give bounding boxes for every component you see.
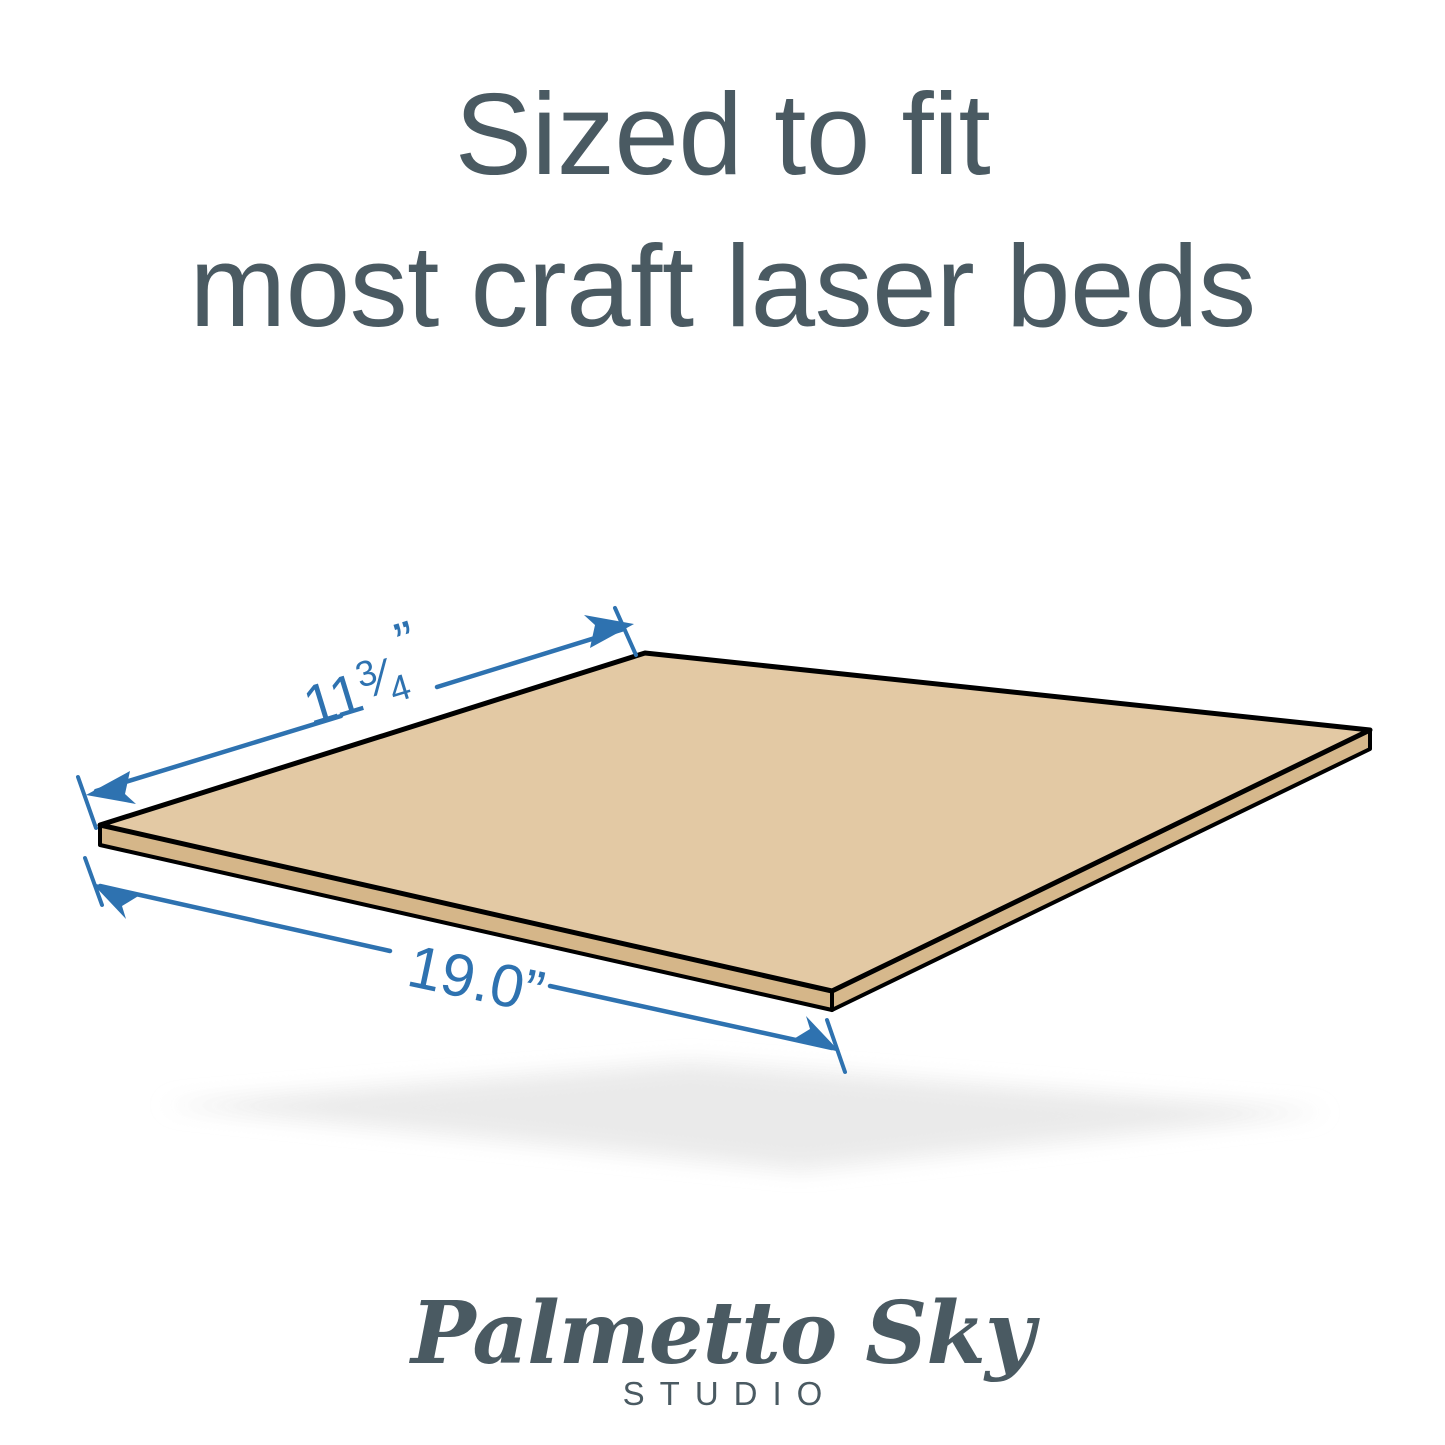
- width-unit: ”: [388, 608, 424, 674]
- length-dimension-label: 19.0”: [402, 932, 550, 1026]
- board-top-face: [100, 653, 1370, 991]
- poster-canvas: Sized to fit most craft laser beds: [0, 0, 1445, 1445]
- brand-logo-subtitle: STUDIO: [0, 1374, 1445, 1414]
- board-shape: [100, 653, 1370, 1010]
- length-value: 19.0: [402, 932, 530, 1022]
- brand-logo: Palmetto Sky STUDIO: [0, 1288, 1445, 1414]
- svg-text:19.0”: 19.0”: [402, 932, 550, 1026]
- brand-logo-script: Palmetto Sky: [0, 1288, 1445, 1380]
- width-extension-tick-start: [78, 777, 96, 828]
- svg-text:113⁄4”: 113⁄4”: [286, 608, 434, 737]
- board-drop-shadow: [160, 1062, 1330, 1170]
- board-illustration: 113⁄4” 19.0”: [0, 0, 1445, 1445]
- length-extension-tick-start: [85, 858, 102, 905]
- width-dimension-label: 113⁄4”: [286, 608, 434, 737]
- width-arrow-left: [86, 771, 136, 804]
